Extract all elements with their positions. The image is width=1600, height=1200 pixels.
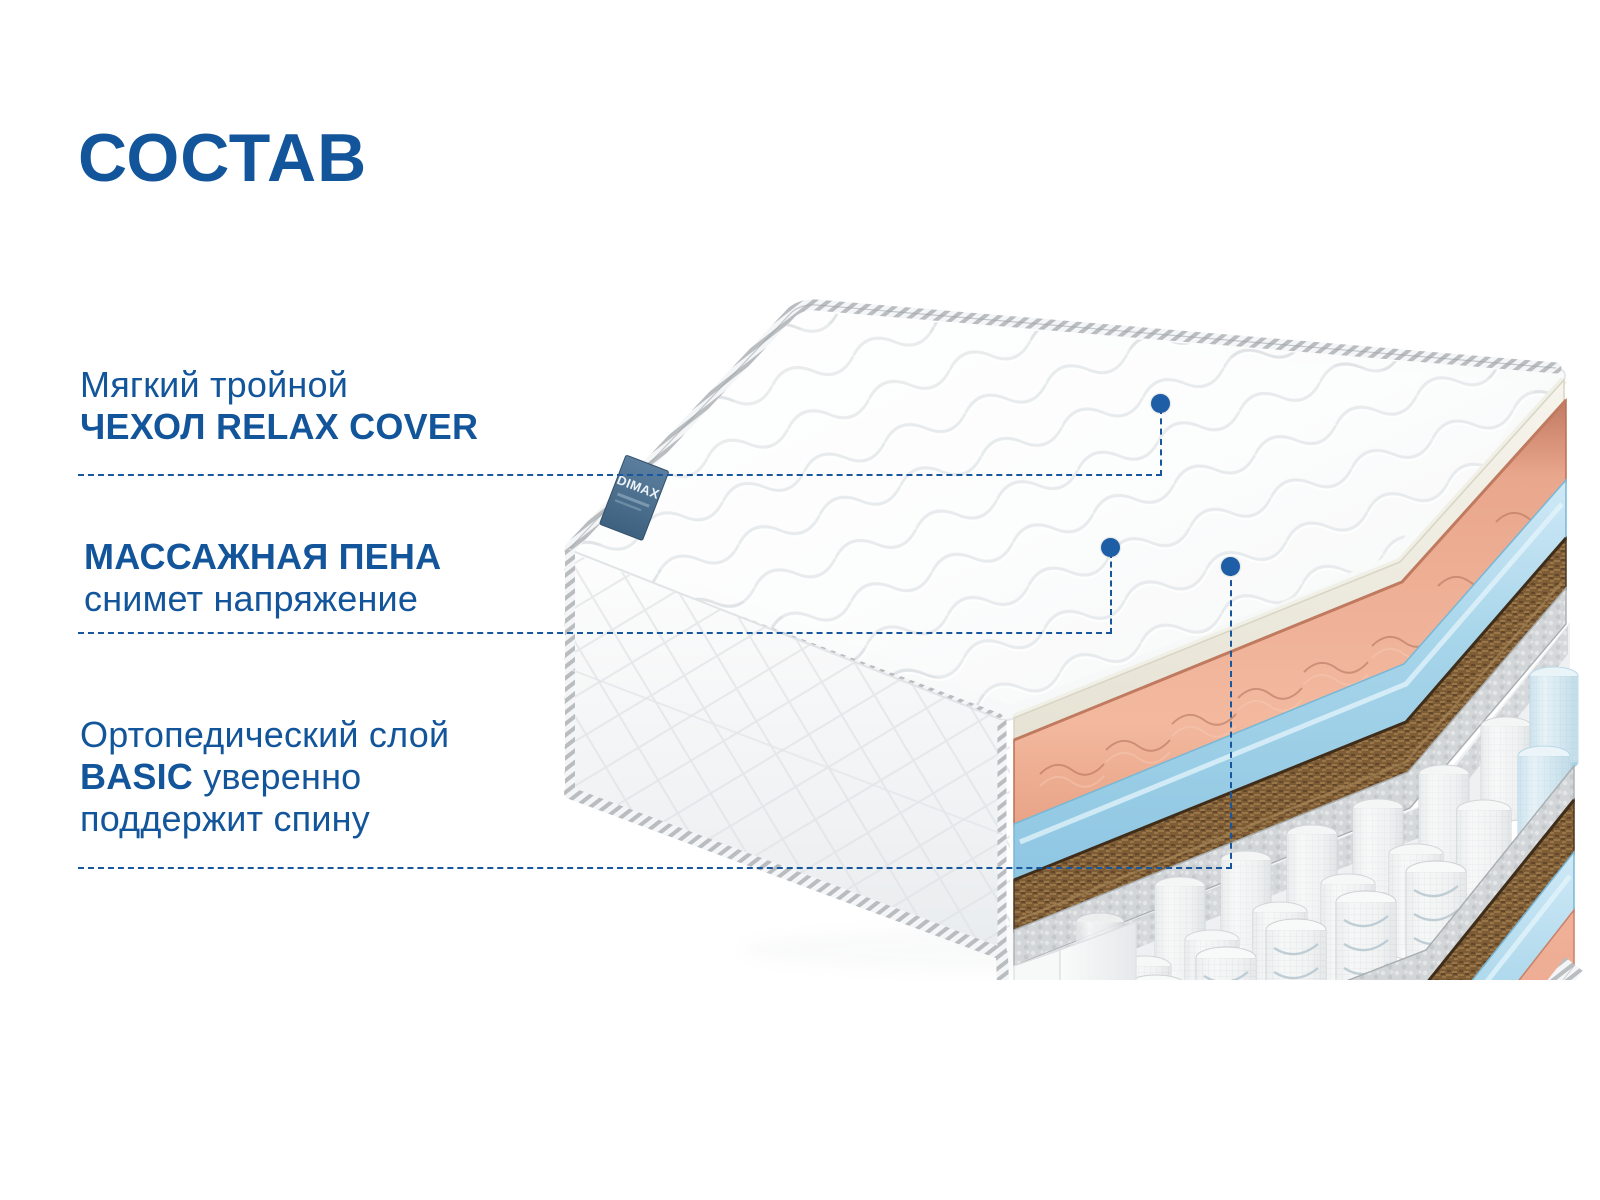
leader-line-cover-horizontal — [78, 474, 1162, 476]
callout-cover-line-1: Мягкий тройной — [80, 364, 478, 406]
leader-line-orthopedic-vertical — [1230, 570, 1232, 869]
callout-orthopedic-line-1: Ортопедический слой — [80, 714, 449, 756]
callout-orthopedic-line-3: поддержит спину — [80, 798, 449, 840]
callout-orthopedic-line-2: BASIC уверенно — [80, 756, 449, 798]
callout-dot-orthopedic — [1221, 557, 1240, 576]
callout-dot-cover — [1151, 394, 1170, 413]
leader-line-orthopedic-horizontal — [78, 867, 1232, 869]
callout-orthopedic-layer: Ортопедический слой BASIC уверенно подде… — [80, 714, 449, 839]
callout-massage-foam-line-2: снимет напряжение — [84, 578, 441, 620]
leader-line-massage-foam-horizontal — [78, 632, 1112, 634]
leader-line-cover-vertical — [1160, 408, 1162, 476]
leader-line-massage-foam-vertical — [1110, 552, 1112, 634]
callout-massage-foam-line-1: МАССАЖНАЯ ПЕНА — [84, 536, 441, 578]
page-title: СОСТАВ — [78, 124, 367, 192]
callout-cover-line-2: ЧЕХОЛ RELAX COVER — [80, 406, 478, 448]
callout-orthopedic-rest: уверенно — [193, 756, 361, 797]
callout-cover: Мягкий тройной ЧЕХОЛ RELAX COVER — [80, 364, 478, 448]
callout-dot-massage-foam — [1101, 538, 1120, 557]
infographic-canvas: DIMAX — [0, 0, 1600, 1200]
callout-orthopedic-basic: BASIC — [80, 756, 193, 797]
callout-massage-foam: МАССАЖНАЯ ПЕНА снимет напряжение — [84, 536, 441, 620]
mattress-cutaway-illustration: DIMAX — [540, 250, 1600, 980]
